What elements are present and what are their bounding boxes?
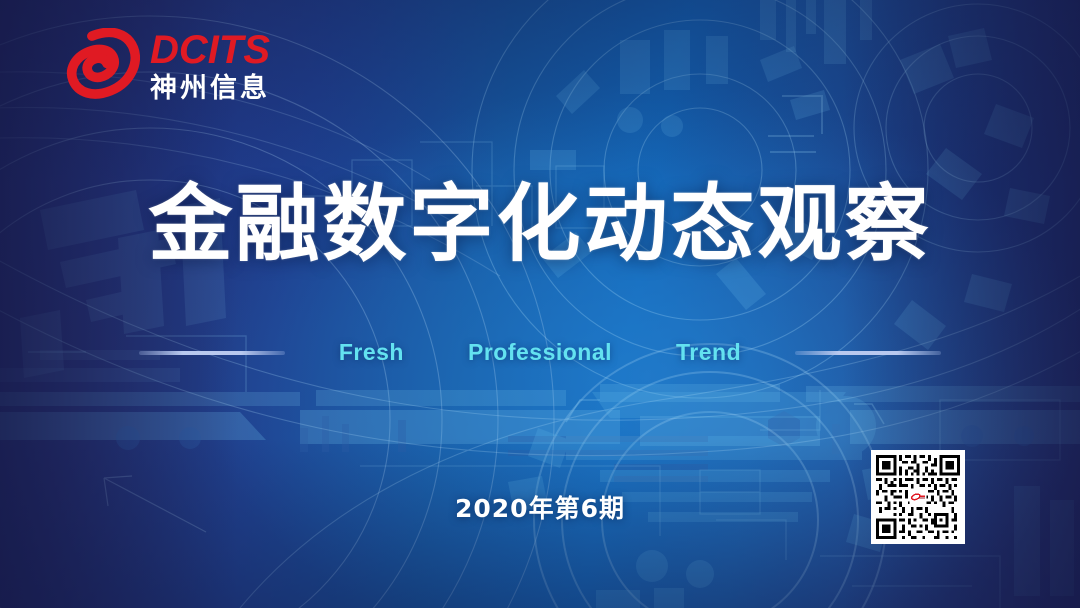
tagline-word-professional: Professional [468,339,612,366]
tagline-word-fresh: Fresh [339,339,404,366]
tagline-rule-left [139,351,285,355]
tagline-rule-right [795,351,941,355]
logo-chinese-name: 神州信息 [150,75,270,102]
tagline-word-trend: Trend [676,339,741,366]
dcits-swirl-icon [66,28,140,100]
page-title: 金融数字化动态观察 [0,182,1080,268]
logo-latin-name: DCITS [150,30,270,70]
brand-logo[interactable]: DCITS 神州信息 [66,26,270,102]
qr-code[interactable] [871,450,965,544]
poster-canvas: DCITS 神州信息 金融数字化动态观察 Fresh Professional … [0,0,1080,608]
tagline-row: Fresh Professional Trend [0,339,1080,366]
